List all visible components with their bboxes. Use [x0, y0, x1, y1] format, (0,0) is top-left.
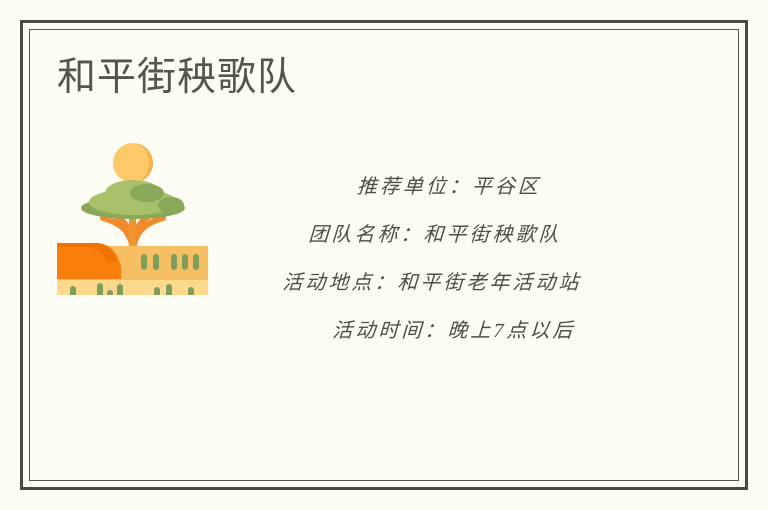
tree-foliage [81, 180, 185, 219]
ground-lower-band [57, 280, 208, 295]
info-line-activity-time: 活动时间：晚上7点以后 [221, 307, 644, 355]
savanna-tree-sun-icon [55, 140, 210, 295]
info-line-team-name: 团队名称：和平街秧歌队 [221, 211, 644, 259]
page-title: 和平街秧歌队 [57, 54, 297, 102]
info-line-activity-location: 活动地点：和平街老年活动站 [221, 259, 644, 307]
sun-icon [113, 143, 153, 183]
info-line-recommending-unit: 推荐单位：平谷区 [221, 163, 644, 211]
info-block: 推荐单位：平谷区 团队名称：和平街秧歌队 活动地点：和平街老年活动站 活动时间：… [222, 163, 642, 355]
poster-card: 和平街秧歌队 [0, 0, 768, 510]
